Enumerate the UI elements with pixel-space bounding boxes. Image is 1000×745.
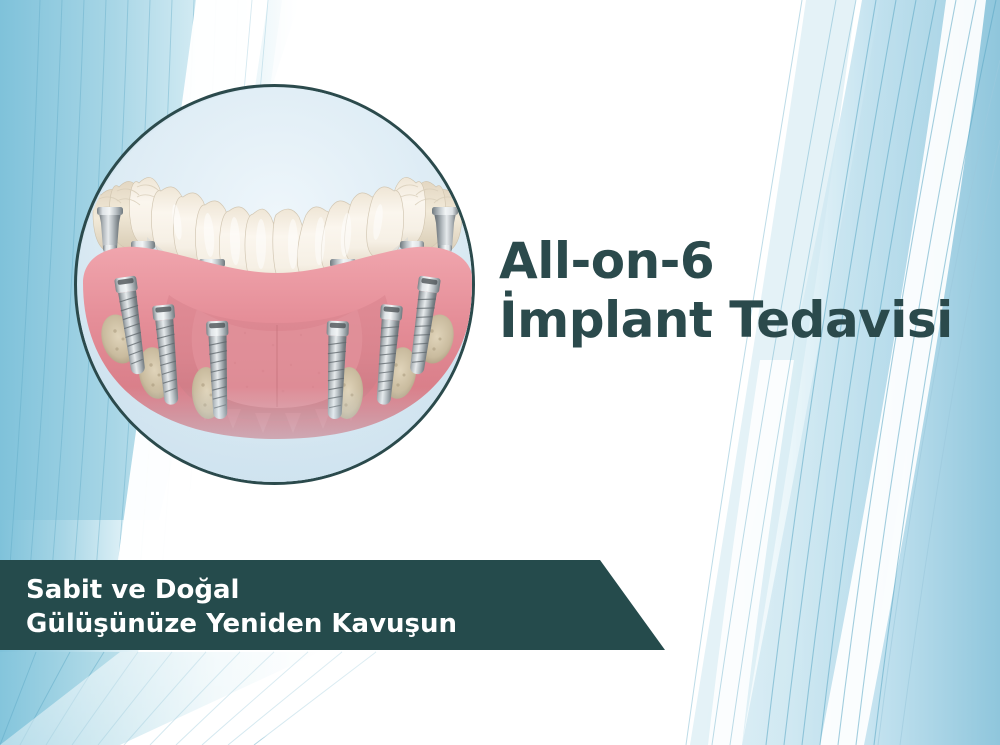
poster-canvas: All-on-6 İmplant Tedavisi Sabit ve Doğal…: [0, 0, 1000, 745]
tagline-line-2: Gülüşünüze Yeniden Kavuşun: [26, 607, 457, 641]
page-title: All-on-6 İmplant Tedavisi: [499, 232, 979, 350]
dental-implant-illustration: [74, 84, 475, 485]
headline-line-2: İmplant Tedavisi: [499, 291, 979, 350]
tagline-text: Sabit ve Doğal Gülüşünüze Yeniden Kavuşu…: [26, 573, 457, 641]
tagline-banner: Sabit ve Doğal Gülüşünüze Yeniden Kavuşu…: [0, 560, 690, 652]
tagline-line-1: Sabit ve Doğal: [26, 573, 457, 607]
headline-line-1: All-on-6: [499, 232, 979, 291]
